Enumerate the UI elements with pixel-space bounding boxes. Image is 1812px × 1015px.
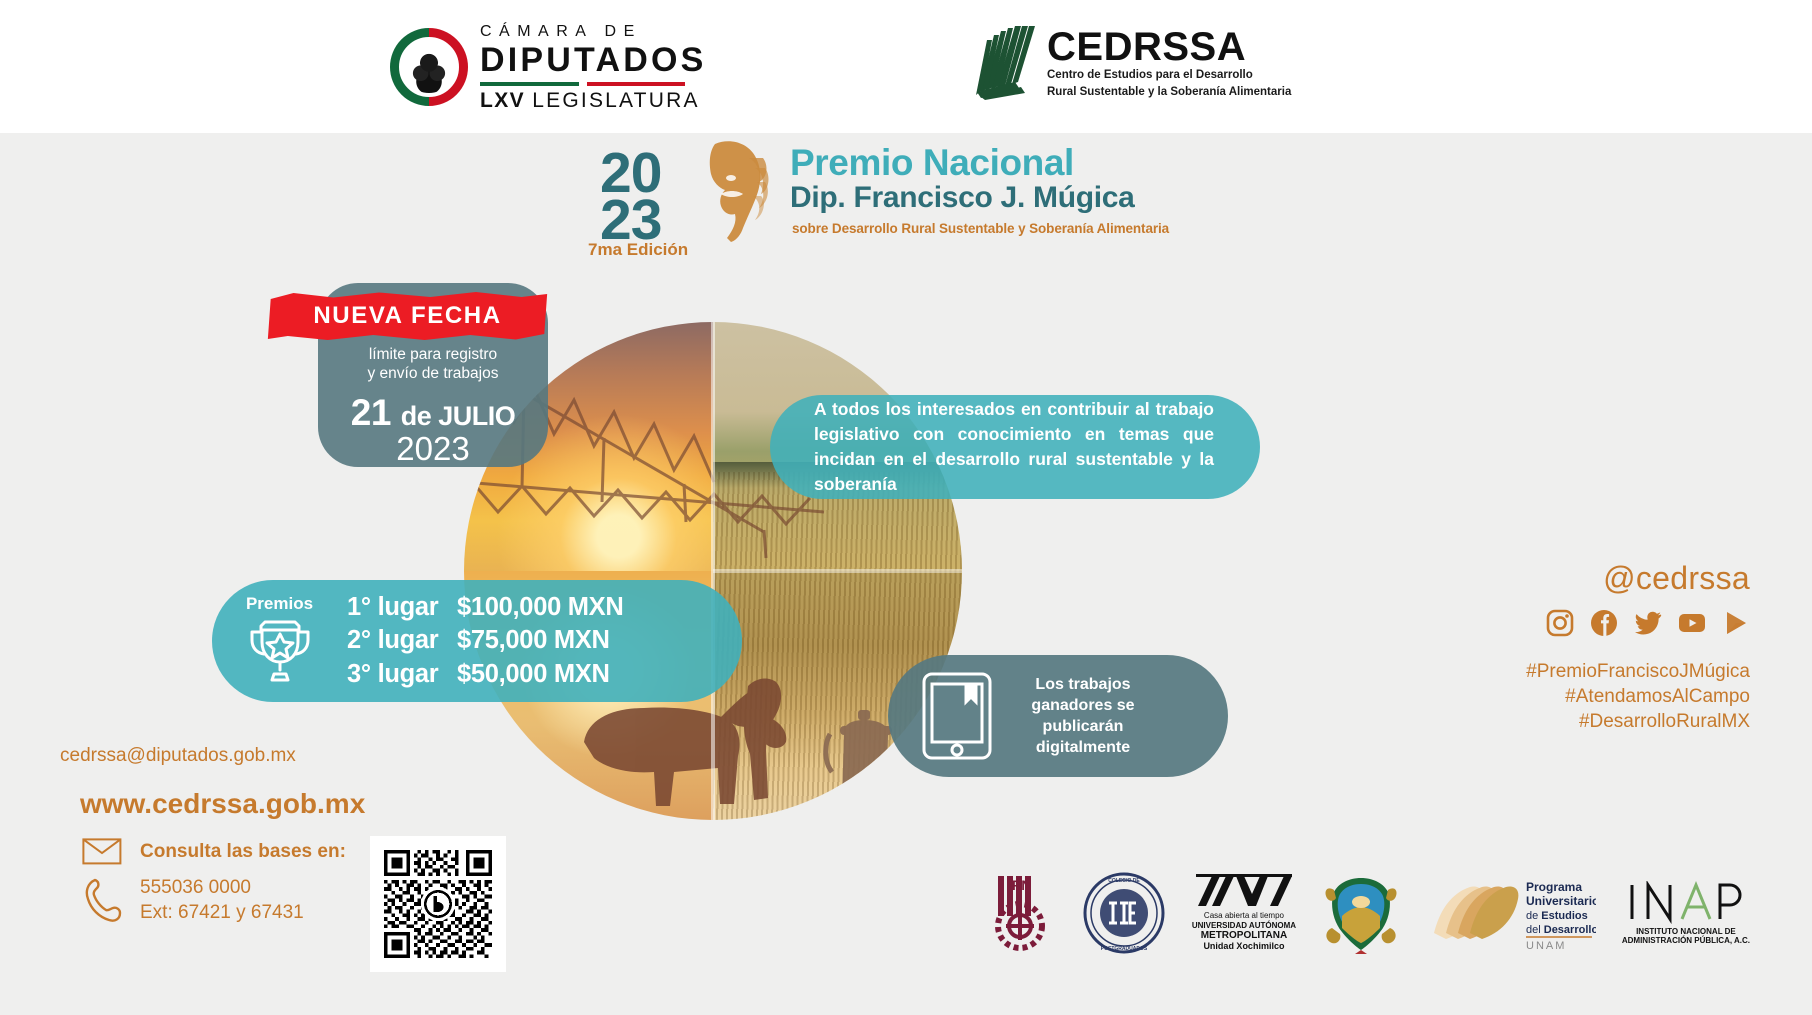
prize-amount-2: $75,000 MXN [457, 626, 610, 654]
legislatura-roman: LXV [480, 89, 525, 112]
phone-icon [80, 877, 124, 923]
svg-text:Programa: Programa [1526, 880, 1582, 894]
social-handle: @cedrssa [1450, 560, 1750, 597]
deadline-caption-1: límite para registro [318, 345, 548, 364]
prize-row-2: 2° lugar$75,000 MXN [347, 624, 624, 658]
hashtag-1: #PremioFranciscoJMúgica [1450, 659, 1750, 684]
uam-xochimilco-logo: Casa abierta al tiempo UNIVERSIDAD AUTÓN… [1192, 858, 1296, 968]
page-title: Premio Nacional [790, 144, 1074, 181]
social-block: @cedrssa #PremioFranciscoJMúgica #Atenda… [1450, 560, 1750, 734]
svg-text:de Estudios: de Estudios [1526, 910, 1588, 922]
camara-line1: CÁMARA DE [480, 23, 707, 41]
contact-email[interactable]: cedrssa@diputados.gob.mx [60, 745, 296, 767]
prize-row-3: 3° lugar$50,000 MXN [347, 658, 624, 692]
hashtag-3: #DesarrolloRuralMX [1450, 709, 1750, 734]
deadline-day: 21 [351, 392, 391, 433]
tablet-bookmark-icon [918, 670, 996, 762]
youtube-icon[interactable] [1678, 609, 1706, 637]
hashtag-2: #AtendamosAlCampo [1450, 684, 1750, 709]
instagram-icon[interactable] [1546, 609, 1574, 637]
prize-amount-1: $100,000 MXN [457, 593, 624, 621]
edition-label: 7ma Edición [588, 240, 688, 260]
deadline-date: 21 de JULIO [318, 394, 548, 431]
deadline-caption-2: y envío de trabajos [318, 364, 548, 383]
phone-ext: Ext: 67421 y 67431 [140, 902, 304, 923]
legislatura-word: LEGISLATURA [532, 89, 699, 112]
prize-place-3: 3° lugar [347, 658, 457, 692]
ipn-logo: IPN [990, 858, 1056, 968]
camara-line2: DIPUTADOS [480, 43, 707, 77]
bases-row: Consulta las bases en: [80, 838, 370, 865]
digital-line-3: publicarán [1008, 716, 1158, 737]
cedrssa-furrows-icon [975, 26, 1037, 100]
hashtags: #PremioFranciscoJMúgica #AtendamosAlCamp… [1450, 659, 1750, 734]
prize-place-2: 2° lugar [347, 624, 457, 658]
envelope-icon [80, 838, 124, 865]
prizes-label: Premios [212, 594, 347, 614]
digital-line-4: digitalmente [1008, 737, 1158, 758]
uam-xochimilco-label: Casa abierta al tiempo UNIVERSIDAD AUTÓN… [1192, 911, 1296, 951]
year-badge: 20 23 [600, 150, 661, 243]
phone-numbers: 555036 0000 Ext: 67421 y 67431 [140, 875, 304, 926]
cedrssa-sub1: Centro de Estudios para el Desarrollo [1047, 68, 1291, 83]
mugica-portrait-icon [685, 138, 777, 250]
deadline-year: 2023 [318, 431, 548, 467]
cedrssa-sub2: Rural Sustentable y la Soberanía Aliment… [1047, 85, 1291, 100]
twitter-icon[interactable] [1634, 609, 1662, 637]
trophy-icon [243, 618, 317, 684]
deadline-month: de JULIO [401, 401, 516, 431]
escudo-nacional-icon [390, 28, 468, 106]
pued-unam-logo: Programa Universitario de Estudios del D… [1426, 858, 1596, 968]
phone-main: 555036 0000 [140, 877, 251, 898]
prize-list: 1° lugar$100,000 MXN 2° lugar$75,000 MXN… [347, 591, 624, 692]
play-icon[interactable] [1722, 609, 1750, 637]
colegio-postgraduados-logo: COLEGIO DE POSTGRADUADOS [1082, 858, 1166, 968]
camara-diputados-logo: CÁMARA DE DIPUTADOS LXV LEGISLATURA [390, 18, 690, 116]
page-subtitle: Dip. Francisco J. Múgica [790, 183, 1135, 213]
prize-place-1: 1° lugar [347, 591, 457, 625]
svg-text:Universitario: Universitario [1526, 894, 1596, 908]
nueva-fecha-badge: NUEVA FECHA [265, 291, 550, 341]
digital-line-2: ganadores se [1008, 695, 1158, 716]
inap-logo: INSTITUTO NACIONAL DE ADMINISTRACIÓN PÚB… [1622, 858, 1750, 968]
tricolor-rule [480, 82, 685, 86]
phone-row: 555036 0000 Ext: 67421 y 67431 [80, 875, 370, 926]
svg-text:del Desarrollo: del Desarrollo [1526, 924, 1596, 936]
cedrssa-logo: CEDRSSA Centro de Estudios para el Desar… [975, 26, 1315, 108]
audience-bubble: A todos los interesados en contribuir al… [770, 395, 1260, 499]
facebook-icon[interactable] [1590, 609, 1618, 637]
contact-details: Consulta las bases en: 555036 0000 Ext: … [80, 838, 370, 936]
legislatura-line: LXV LEGISLATURA [480, 90, 707, 111]
audience-text: A todos los interesados en contribuir al… [770, 397, 1260, 496]
prize-row-1: 1° lugar$100,000 MXN [347, 591, 624, 625]
svg-text:IPN: IPN [1008, 877, 1031, 893]
nueva-fecha-label: NUEVA FECHA [313, 302, 501, 330]
qr-code[interactable] [370, 836, 506, 972]
social-icons-row [1450, 609, 1750, 637]
header-bar: CÁMARA DE DIPUTADOS LXV LEGISLATURA [0, 0, 1812, 133]
contact-website[interactable]: www.cedrssa.gob.mx [80, 788, 365, 820]
partner-logos: IPN COLEGIO DE POSTGRADUADOS [990, 848, 1750, 978]
page-tagline: sobre Desarrollo Rural Sustentable y Sob… [792, 221, 1169, 236]
digital-text: Los trabajos ganadores se publicarán dig… [1008, 674, 1158, 758]
prize-amount-3: $50,000 MXN [457, 660, 610, 688]
digital-line-1: Los trabajos [1008, 674, 1158, 695]
digital-publication-bubble: Los trabajos ganadores se publicarán dig… [888, 655, 1228, 777]
prizes-bubble: Premios 1° lugar$100,000 MXN 2° lugar$75… [212, 580, 742, 702]
svg-text:UNAM: UNAM [1526, 940, 1566, 952]
svg-text:COLEGIO DE: COLEGIO DE [1108, 878, 1140, 884]
svg-text:POSTGRADUADOS: POSTGRADUADOS [1101, 946, 1148, 952]
chapingo-logo [1322, 858, 1400, 968]
year-bottom: 23 [600, 197, 661, 244]
bases-label: Consulta las bases en: [140, 841, 346, 863]
cedrssa-acronym: CEDRSSA [1047, 28, 1291, 66]
inap-label: INSTITUTO NACIONAL DE ADMINISTRACIÓN PÚB… [1622, 927, 1750, 945]
hero-title-block: 20 23 7ma Edición Premio Nacional Dip. F… [600, 142, 1220, 272]
